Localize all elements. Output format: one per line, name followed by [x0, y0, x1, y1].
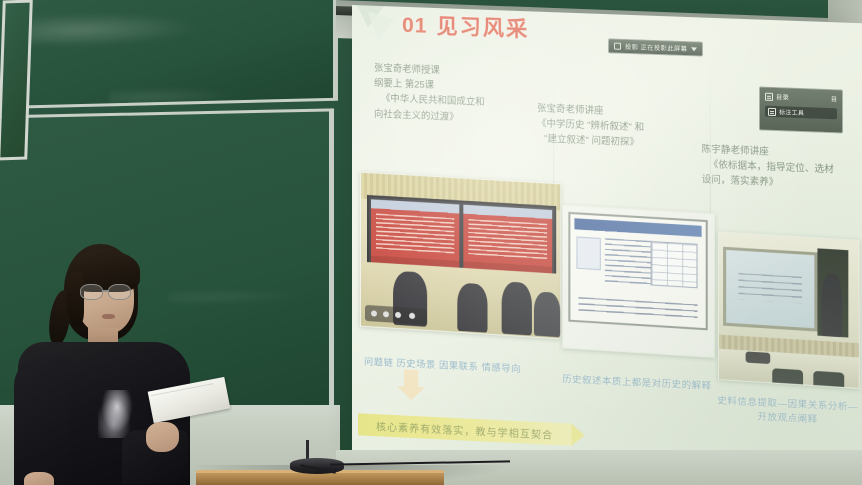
side-panel-row-catalog[interactable]: 目录 目: [765, 92, 837, 104]
photo3-presenter: [822, 273, 843, 337]
side-panel-label: 目录: [776, 92, 789, 101]
presenter-left-hand: [24, 472, 54, 485]
photo1-screen-left: [371, 199, 459, 268]
photo1-control-dot: [371, 310, 377, 316]
photo1-screen-text: [469, 219, 547, 261]
photo2-data-table: [651, 241, 698, 288]
glasses-lens-left: [80, 284, 103, 300]
presenter-figure: [14, 244, 194, 485]
glasses-lens-right: [108, 284, 131, 300]
photo3-screen-text: [738, 273, 801, 303]
photo2-footer-text: [578, 297, 697, 320]
photo1-control-dot: [395, 312, 401, 318]
arrow-head: [397, 386, 425, 400]
glasses-icon: [80, 284, 138, 300]
arrow-stem: [404, 369, 418, 388]
slide-content: 01见习风采 张宝奇老师授课 纲要上 第25课 《中华人民共和国成立和 向社会主…: [352, 5, 862, 482]
photo3-chair: [813, 371, 844, 389]
list-icon: [765, 92, 773, 100]
projection-screen[interactable]: 01见习风采 张宝奇老师授课 纲要上 第25课 《中华人民共和国成立和 向社会主…: [352, 5, 862, 482]
microphone-base: [290, 458, 344, 474]
photo1-student: [457, 283, 487, 333]
photo1-control-dot: [409, 313, 415, 319]
photo2-slide-frame: [568, 212, 707, 330]
photo2-slide-titlebar: [574, 218, 701, 237]
side-panel-row-annotate[interactable]: 标注工具: [765, 106, 837, 120]
presenter-right-hand: [146, 422, 179, 452]
photo1-control-dot: [383, 311, 389, 317]
banner-arrow-tip: [571, 424, 584, 447]
photo1-student: [534, 291, 560, 337]
side-panel-right-label: 目: [831, 94, 837, 103]
blackboard-panel-upper: [0, 0, 338, 109]
photo3-desk-object: [746, 351, 771, 364]
presenter-left-shoulder: [14, 356, 70, 485]
slide-photo-2: [562, 204, 715, 358]
photo2-side-card: [576, 237, 600, 271]
presenter-mouth: [102, 314, 115, 319]
photo3-projection-screen: [723, 247, 817, 332]
screenshot-stage: 01见习风采 张宝奇老师授课 纲要上 第25课 《中华人民共和国成立和 向社会主…: [0, 0, 862, 485]
slide-photo-1: [360, 172, 561, 340]
photo1-screen-right: [463, 205, 552, 275]
photo1-screen-text: [376, 214, 454, 256]
photo3-chair: [772, 368, 803, 386]
slide-photo-3: [718, 231, 860, 389]
chalk-dust-smudge: [109, 85, 239, 108]
photo1-student: [502, 281, 532, 335]
chevron-down-icon[interactable]: [691, 47, 697, 51]
side-panel-label: 标注工具: [779, 107, 804, 117]
blackboard-panel-side: [0, 0, 33, 161]
display-icon: [614, 43, 621, 50]
pen-icon: [768, 107, 776, 115]
chalk-dust-smudge: [29, 10, 199, 48]
slide-side-panel[interactable]: 目录 目 标注工具: [759, 86, 843, 133]
projector-toolbar-label: 投影 正在投影此屏幕: [625, 42, 687, 53]
